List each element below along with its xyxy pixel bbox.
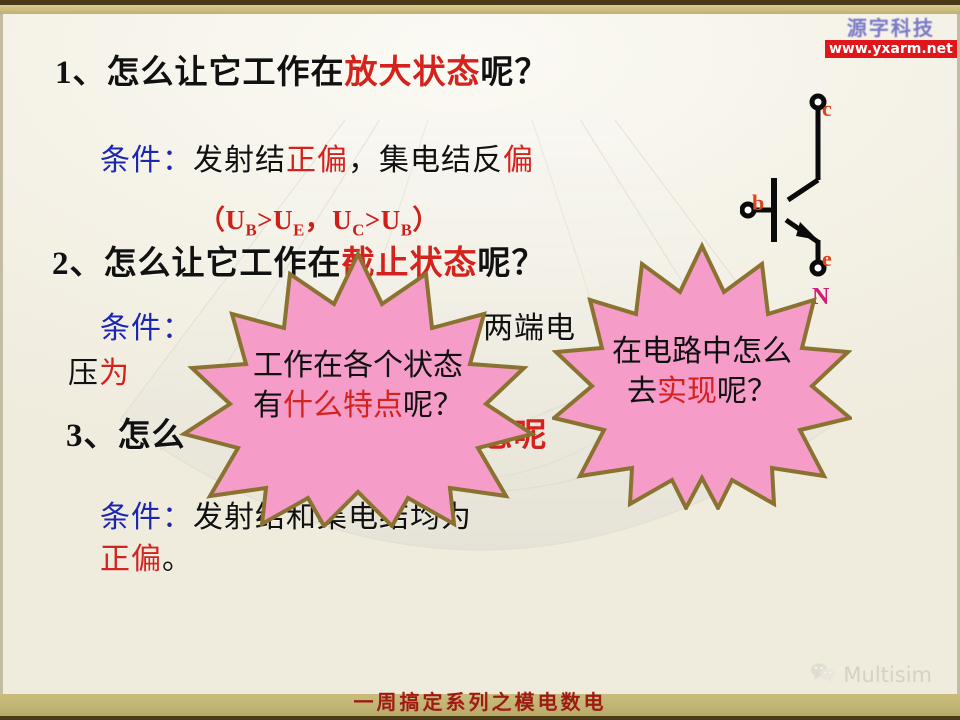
condition-3-tail: 。 — [162, 543, 193, 576]
frame-left-edge — [0, 14, 3, 694]
callout-left-line-1: 工作在各个状态 — [168, 346, 548, 386]
formula-u3: U — [332, 205, 352, 235]
callout-starburst-left: 工作在各个状态 有什么特点呢？ — [168, 248, 548, 528]
formula-u4: U — [381, 205, 401, 235]
question-3-number: 3、 — [66, 418, 118, 454]
callout-starburst-right: 在电路中怎么 去实现呢？ — [552, 240, 852, 510]
question-1-text-after: 呢？ — [481, 55, 549, 91]
condition-3-highlight: 正偏 — [100, 543, 162, 576]
formula-u1: U — [226, 205, 246, 235]
multisim-watermark: Multisim — [810, 662, 932, 687]
transistor-base-label: b — [752, 190, 764, 216]
frame-bottom-dark-band — [0, 716, 960, 720]
callout-left-line-2: 有什么特点呢？ — [168, 386, 548, 426]
condition-2-line-wrap: 压为 — [68, 348, 130, 392]
multisim-watermark-text: Multisim — [843, 663, 932, 687]
brand-watermark-url: www.yxarm.net — [825, 40, 957, 58]
formula-open-paren: （ — [198, 205, 226, 235]
condition-1-highlight-2: 偏 — [503, 144, 534, 177]
formula-close-paren: ） — [412, 205, 440, 235]
callout-right-line2-before: 去 — [627, 375, 657, 408]
condition-1-line: 条件：发射结正偏，集电结反偏 — [100, 135, 534, 179]
frame-top-gold-band — [0, 5, 960, 14]
formula-gt-2: > — [365, 205, 381, 235]
condition-2-text-1: 压 — [68, 357, 99, 390]
question-2-number: 2、 — [52, 246, 104, 282]
formula-gt-1: > — [257, 205, 273, 235]
callout-right-line-1: 在电路中怎么 — [552, 332, 852, 372]
question-1-line: 1、怎么让它工作在放大状态呢？ — [55, 45, 549, 93]
formula-u2: U — [273, 205, 293, 235]
callout-left-line2-highlight: 什么特点 — [283, 389, 403, 422]
condition-1-label: 条件： — [100, 144, 193, 177]
question-1-number: 1、 — [55, 55, 107, 91]
question-1-text-before: 怎么让它工作在 — [107, 55, 345, 91]
condition-1-text-2: ，集电结反 — [348, 144, 503, 177]
slide-caption: 一周搞定系列之模电数电 — [0, 686, 960, 715]
condition-1-highlight-1: 正偏 — [286, 144, 348, 177]
wechat-icon — [810, 662, 836, 687]
condition-1-text-1: 发射结 — [193, 144, 286, 177]
callout-right-text: 在电路中怎么 去实现呢？ — [552, 332, 852, 411]
formula-comma: ， — [305, 205, 333, 235]
callout-left-line2-before: 有 — [253, 389, 283, 422]
slide-canvas: 1、怎么让它工作在放大状态呢？ 条件：发射结正偏，集电结反偏 （UB>UE，UC… — [0, 0, 960, 720]
callout-right-line-2: 去实现呢？ — [552, 372, 852, 412]
callout-left-line2-after: 呢？ — [403, 389, 463, 422]
transistor-collector-label: c — [822, 96, 832, 122]
callout-right-line2-highlight: 实现 — [657, 375, 717, 408]
brand-watermark-cn: 源字科技 — [825, 18, 957, 38]
condition-2-highlight-1: 为 — [99, 357, 130, 390]
condition-3-line-wrap: 正偏。 — [100, 534, 193, 578]
callout-left-text: 工作在各个状态 有什么特点呢？ — [168, 346, 548, 425]
formula-bias-inequalities: （UB>UE，UC>UB） — [198, 198, 440, 240]
question-1-highlight: 放大状态 — [345, 55, 481, 91]
brand-watermark: 源字科技 www.yxarm.net — [825, 18, 957, 58]
callout-right-line2-after: 呢？ — [717, 375, 777, 408]
